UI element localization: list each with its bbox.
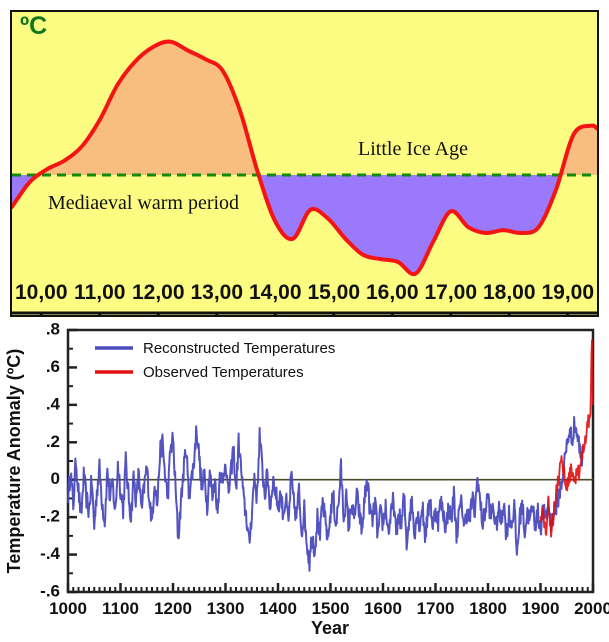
x-tick-label: 1000 (49, 599, 87, 618)
top-panel-plot (12, 12, 597, 315)
top-x-tick-label: 12,00 (132, 281, 185, 305)
mediaeval-warm-period-annotation: Mediaeval warm period (48, 192, 239, 215)
x-tick-label: 1700 (417, 599, 455, 618)
y-tick-label: .2 (46, 432, 60, 451)
x-axis-title: Year (311, 618, 349, 638)
top-x-tick-label: 16,00 (366, 281, 419, 305)
top-x-tick-label: 10,00 (15, 281, 68, 305)
warm-anomaly-area (12, 42, 597, 275)
top-x-tick-label: 11,00 (74, 281, 125, 305)
degree-celsius-label: ºC (20, 14, 47, 39)
top-x-tick-label: 17,00 (424, 281, 477, 305)
x-tick-label: 1900 (522, 599, 560, 618)
top-x-tick-label: 18,00 (483, 281, 536, 305)
x-tick-label: 1200 (154, 599, 192, 618)
legend-label: Reconstructed Temperatures (143, 340, 335, 357)
y-tick-label: -.6 (40, 581, 60, 600)
y-tick-label: -.2 (40, 507, 60, 526)
top-x-tick-label: 19,00 (541, 281, 594, 305)
x-tick-label: 2000 (574, 599, 609, 618)
bottom-panel-plot: .8.6.4.20-.2-.4-.6 100011001200130014001… (0, 320, 609, 642)
y-tick-label: -.4 (40, 544, 60, 563)
y-tick-label: 0 (51, 469, 60, 488)
x-tick-label: 1300 (207, 599, 245, 618)
top-x-tick-label: 15,00 (307, 281, 360, 305)
y-tick-label: .4 (46, 394, 61, 413)
y-tick-label: .6 (46, 357, 60, 376)
x-tick-label: 1600 (364, 599, 402, 618)
x-tick-label: 1400 (259, 599, 297, 618)
y-tick-label: .8 (46, 320, 60, 338)
y-axis-title: Temperature Anomaly (ºC) (4, 349, 24, 574)
x-tick-label: 1100 (102, 599, 139, 618)
millennial-temperature-schematic-panel: ºC Little Ice Age Mediaeval warm period … (10, 10, 599, 317)
little-ice-age-annotation: Little Ice Age (358, 138, 468, 161)
legend-label: Observed Temperatures (143, 364, 304, 381)
top-axis-ticks (12, 313, 597, 315)
top-x-axis-labels: 10,0011,0012,0013,0014,0015,0016,0017,00… (12, 275, 597, 311)
x-tick-label: 1500 (312, 599, 350, 618)
top-x-tick-label: 13,00 (190, 281, 243, 305)
temperature-anomaly-chart-panel: .8.6.4.20-.2-.4-.6 100011001200130014001… (0, 320, 609, 642)
x-tick-label: 1800 (469, 599, 507, 618)
top-x-tick-label: 14,00 (249, 281, 302, 305)
